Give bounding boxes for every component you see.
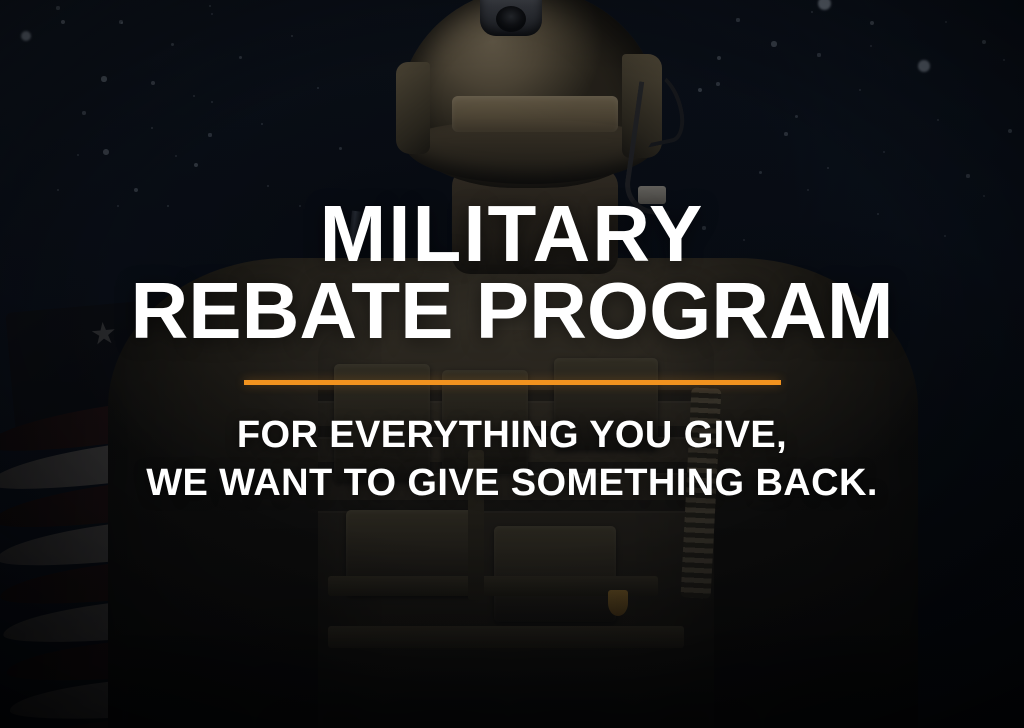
headline-line-1: MILITARY [131,196,894,273]
orange-divider-rule [244,380,781,385]
subheadline-line-2: WE WANT TO GIVE SOMETHING BACK. [146,459,878,508]
subheadline-line-1: FOR EVERYTHING YOU GIVE, [146,411,878,460]
page-title: MILITARY REBATE PROGRAM [131,196,894,350]
banner-subheadline: FOR EVERYTHING YOU GIVE, WE WANT TO GIVE… [146,411,878,508]
banner-content: MILITARY REBATE PROGRAM FOR EVERYTHING Y… [0,0,1024,728]
headline-line-2: REBATE PROGRAM [131,273,894,350]
military-rebate-banner: MILITARY REBATE PROGRAM FOR EVERYTHING Y… [0,0,1024,728]
